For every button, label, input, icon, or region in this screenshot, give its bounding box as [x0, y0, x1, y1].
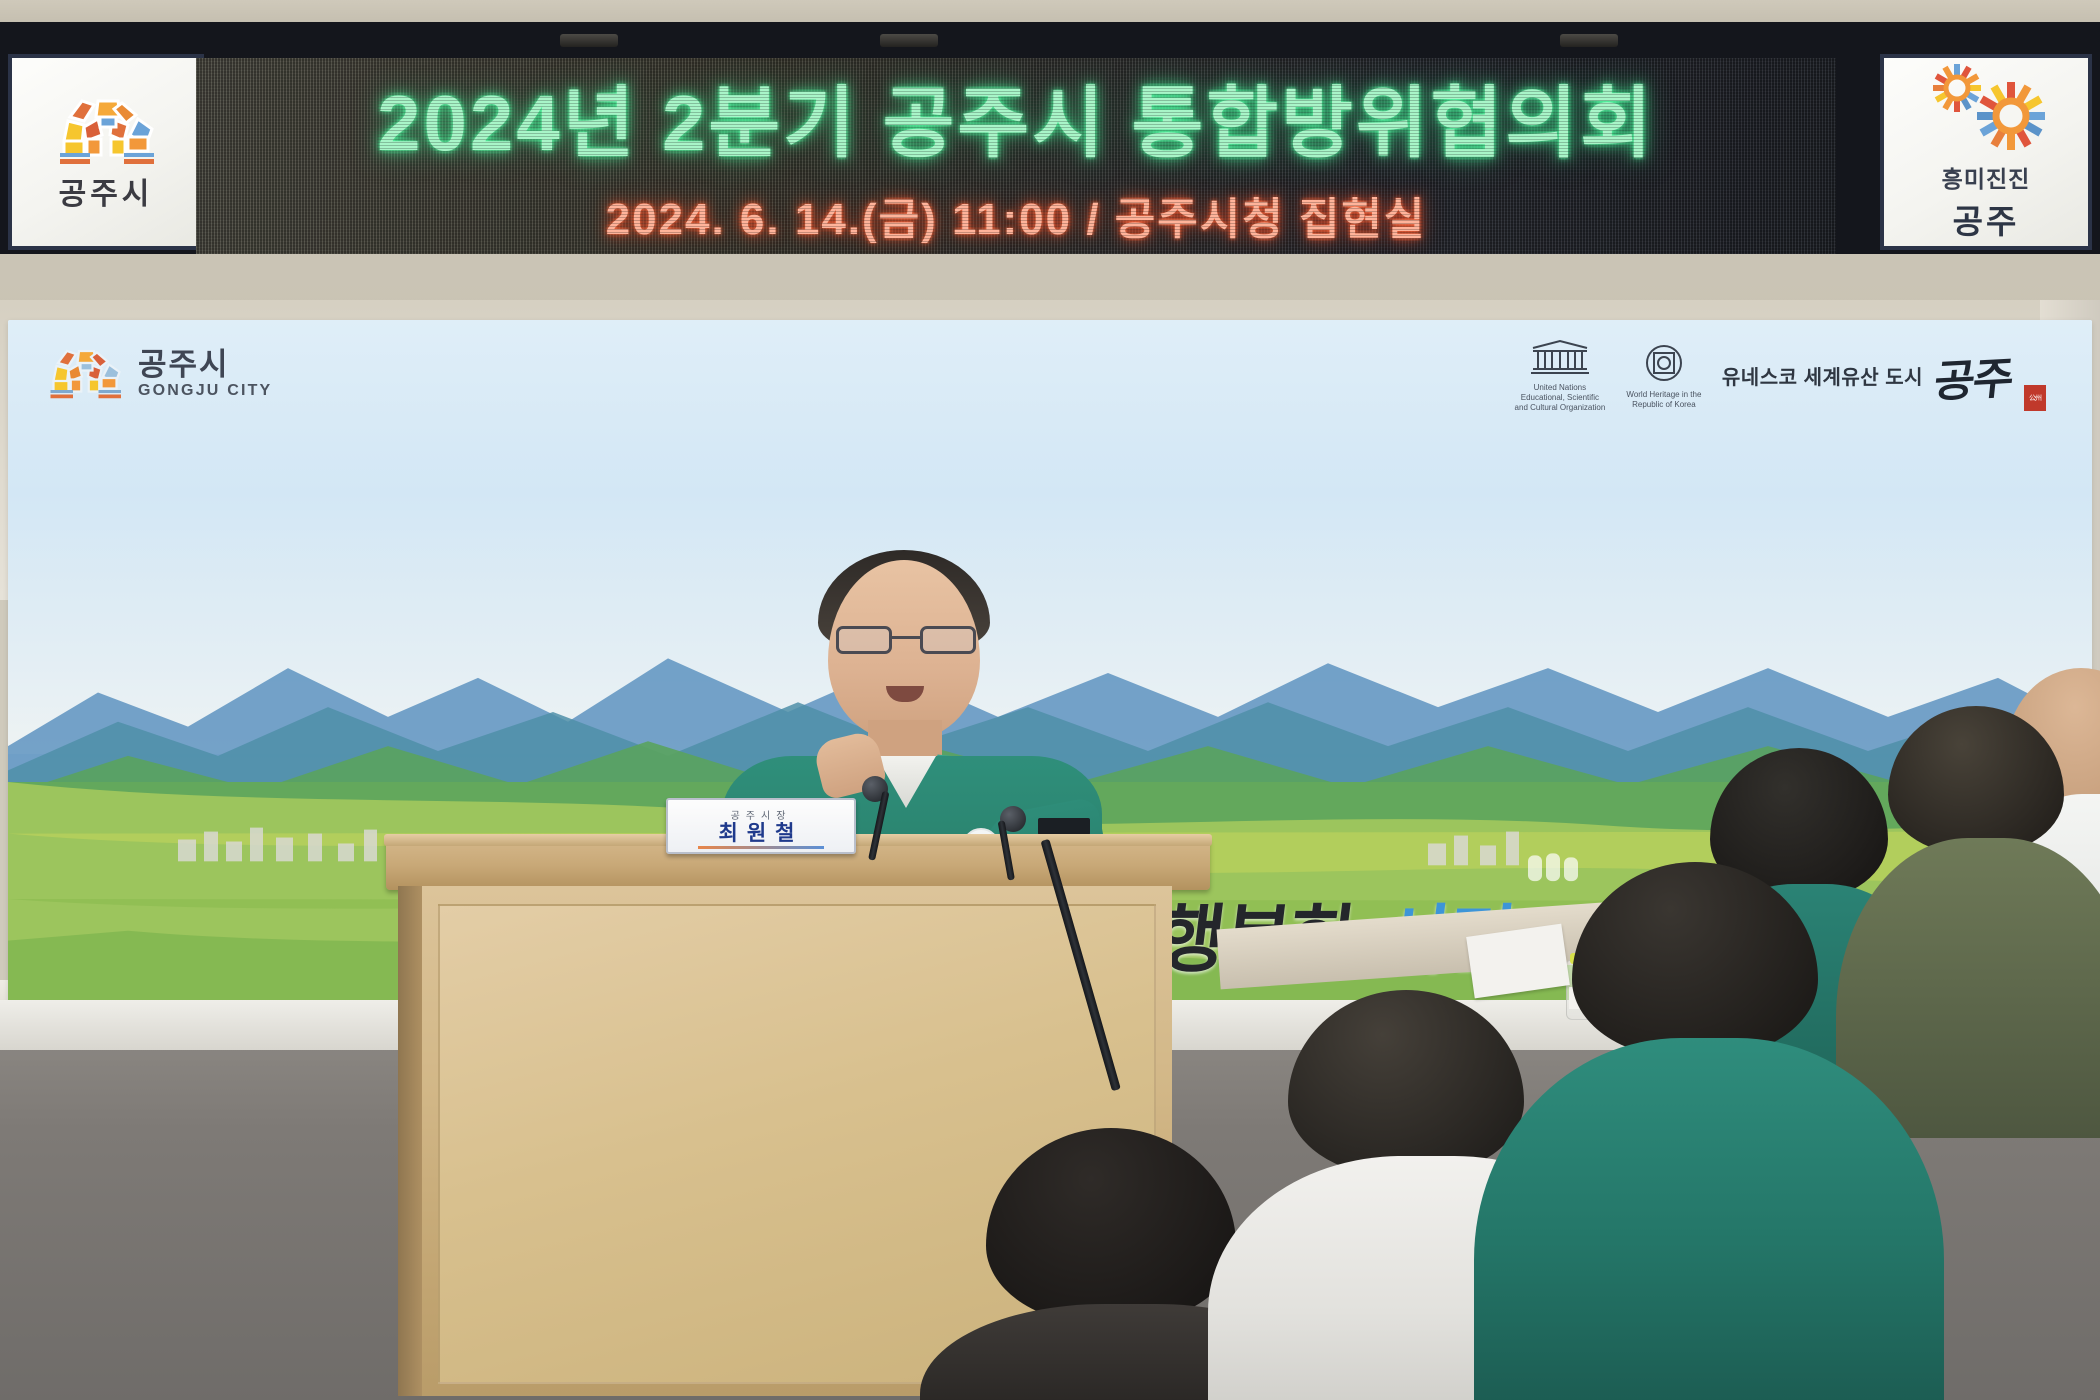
nameplate-accent-bar	[698, 846, 824, 849]
led-display-panel: 2024년 2분기 공주시 통합방위협의회 2024. 6. 14.(금) 11…	[196, 58, 1836, 254]
audience-person-3	[1520, 862, 1890, 1400]
left-logo-plate: 공주시	[8, 54, 204, 250]
right-logo-plate: 흥미진진 공주	[1880, 54, 2092, 250]
unesco-label: 유네스코 세계유산 도시	[1722, 361, 1923, 390]
audience-person-4	[1862, 706, 2100, 1126]
led-sign-assembly: 공주시 2024년 2분기 공주시 통합방위협의회 2024. 6. 14.(금…	[0, 22, 2100, 262]
unesco-heritage-mark: United Nations Educational, Scientific a…	[1514, 338, 2046, 413]
ceiling-equipment-nub	[560, 34, 618, 47]
nameplate: 공주시장 최원철	[666, 798, 856, 854]
gongju-arch-icon	[54, 91, 158, 165]
nameplate-role: 공주시장	[731, 807, 792, 822]
mural-logo-english: GONGJU CITY	[138, 382, 272, 400]
world-heritage-caption: World Heritage in the Republic of Korea	[1618, 390, 1710, 410]
right-plate-label-top: 흥미진진	[1942, 160, 2031, 194]
led-title-line: 2024년 2분기 공주시 통합방위협의회	[196, 84, 1836, 162]
nameplate-name: 최원철	[719, 822, 804, 845]
mural-logo-korean: 공주시	[138, 349, 272, 382]
unesco-caption: United Nations Educational, Scientific a…	[1514, 383, 1606, 413]
gongju-arch-icon	[46, 342, 124, 407]
unesco-seal: 公州	[2024, 385, 2046, 411]
right-plate-label-bottom: 공주	[1953, 195, 2020, 243]
mural-gongju-city-logo: 공주시 GONGJU CITY	[46, 342, 272, 407]
led-subtitle-line: 2024. 6. 14.(금) 11:00 / 공주시청 집현실	[196, 198, 1836, 242]
world-heritage-icon	[1641, 341, 1687, 385]
ceiling-equipment-nub	[880, 34, 938, 47]
unesco-temple-icon	[1529, 338, 1591, 378]
pinwheel-icon	[1911, 62, 2061, 158]
rank-patch-icon	[1038, 818, 1090, 835]
left-plate-label: 공주시	[59, 169, 154, 213]
eyeglasses-icon	[836, 626, 976, 656]
ceiling-equipment-nub	[1560, 34, 1618, 47]
unesco-brush-text: 공주	[1931, 342, 2015, 410]
screenshot-root: 공주시 2024년 2분기 공주시 통합방위협의회 2024. 6. 14.(금…	[0, 0, 2100, 1400]
